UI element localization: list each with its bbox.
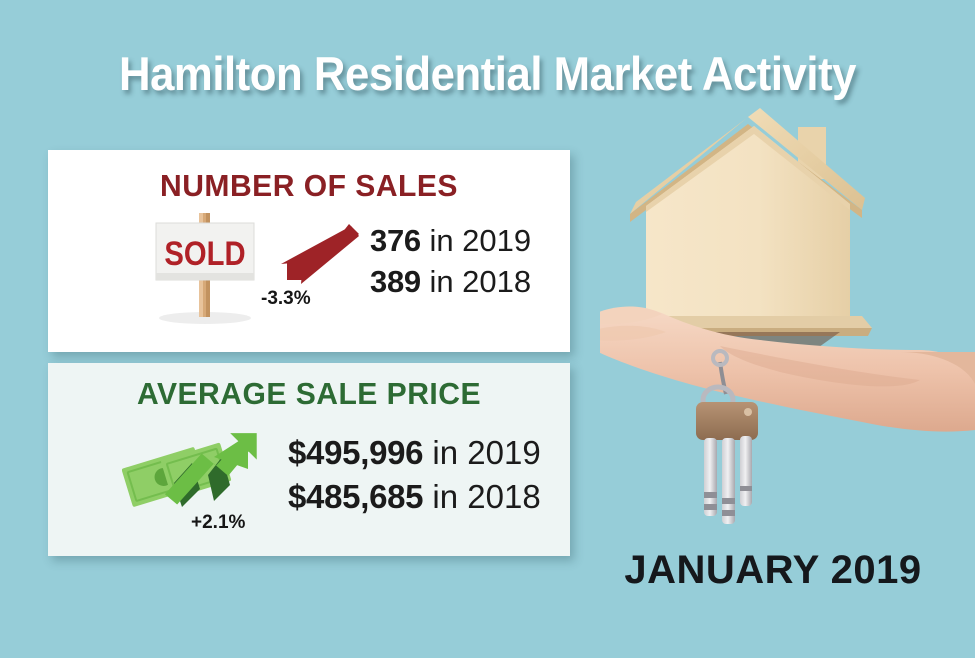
sold-sign-icon: SOLD <box>144 207 266 325</box>
card-average-sale-price: AVERAGE SALE PRICE <box>48 363 570 556</box>
price-change-percent: +2.1% <box>191 512 245 534</box>
sales-row-2019: 376 in 2019 <box>370 221 531 262</box>
price-suffix-2018: in 2018 <box>423 478 540 515</box>
date-caption: JANUARY 2019 <box>600 548 946 593</box>
hand-holding-house-photo <box>600 100 975 545</box>
card-heading-average-sale-price: AVERAGE SALE PRICE <box>56 363 562 412</box>
infographic-root: Hamilton Residential Market Activity NUM… <box>0 0 975 658</box>
sales-suffix-2019: in 2019 <box>421 223 531 258</box>
price-amount-2018: $485,685 <box>288 478 423 515</box>
card-number-of-sales: NUMBER OF SALES SOLD <box>48 150 570 352</box>
price-suffix-2019: in 2019 <box>423 434 540 471</box>
sales-change-percent: -3.3% <box>261 288 311 310</box>
down-arrow-icon <box>279 222 365 294</box>
price-values: $495,996 in 2019 $485,685 in 2018 <box>288 431 541 518</box>
sales-values: 376 in 2019 389 in 2018 <box>370 221 531 303</box>
money-arrow-icon <box>122 423 262 523</box>
sales-amount-2018: 389 <box>370 264 421 299</box>
price-amount-2019: $495,996 <box>288 434 423 471</box>
sales-row-2018: 389 in 2018 <box>370 262 531 303</box>
sales-amount-2019: 376 <box>370 223 421 258</box>
svg-text:SOLD: SOLD <box>164 234 245 273</box>
card-body: AVERAGE SALE PRICE <box>48 363 570 556</box>
price-row-2018: $485,685 in 2018 <box>288 475 541 519</box>
price-row-2019: $495,996 in 2019 <box>288 431 541 475</box>
sales-suffix-2018: in 2018 <box>421 264 531 299</box>
card-body: NUMBER OF SALES SOLD <box>48 150 570 352</box>
card-heading-number-of-sales: NUMBER OF SALES <box>56 150 562 204</box>
page-title: Hamilton Residential Market Activity <box>34 46 941 101</box>
